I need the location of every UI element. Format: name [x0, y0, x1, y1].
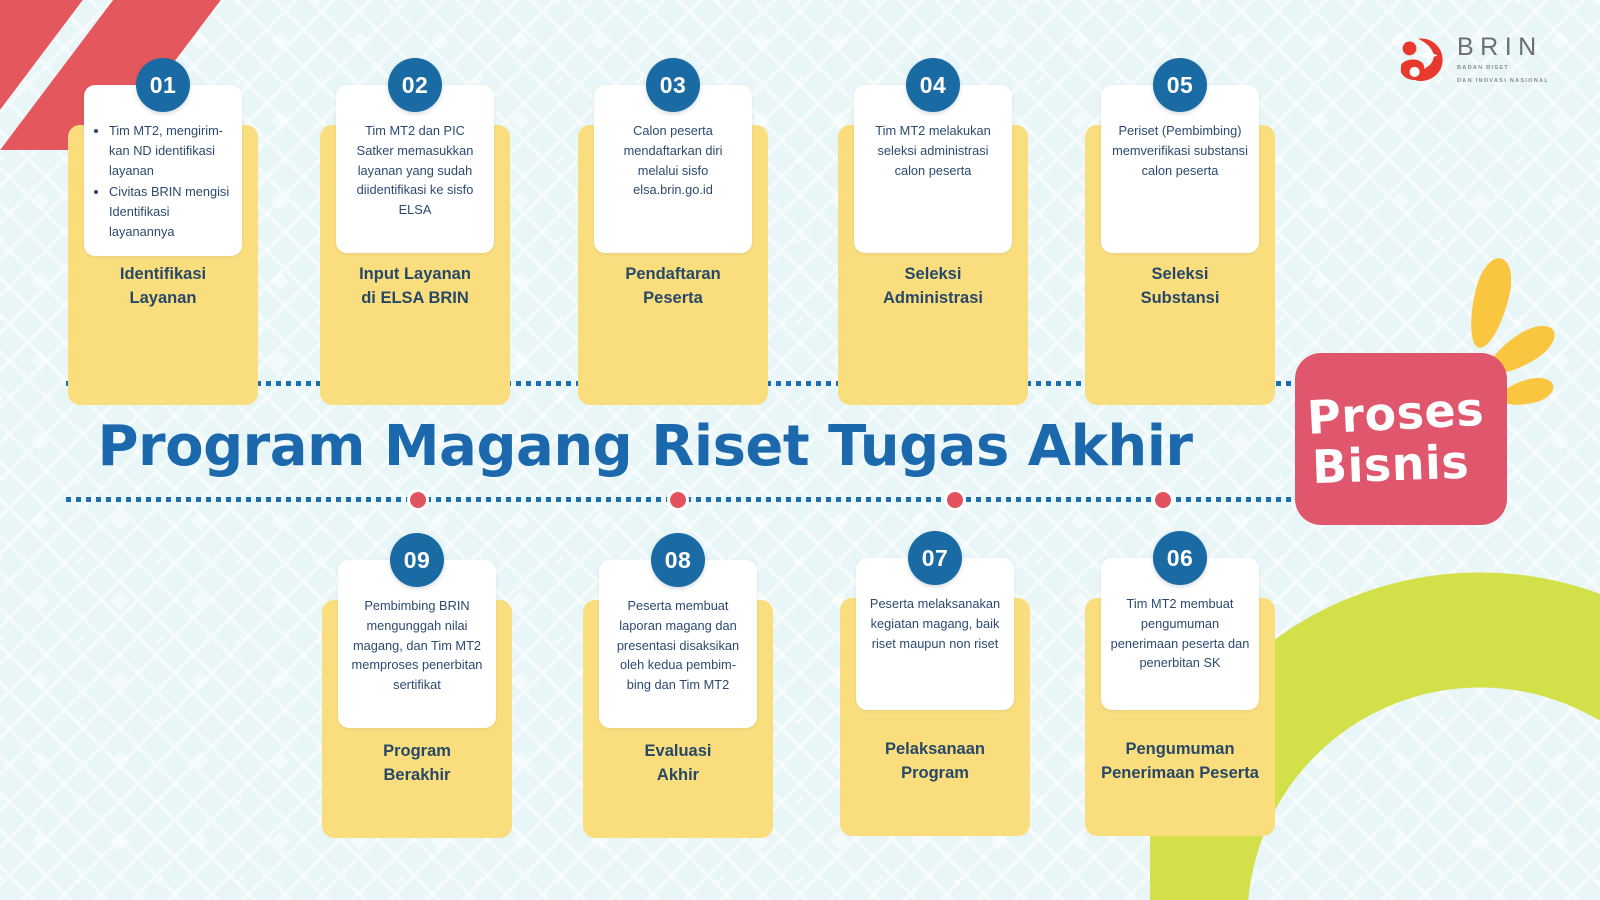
step-number-badge: 07: [908, 531, 962, 585]
card-title-line2: Berakhir: [322, 764, 512, 788]
step-number-badge: 03: [646, 58, 700, 112]
timeline-node-bottom-2: [667, 489, 689, 511]
sparkle-teardrop-icon: [1462, 254, 1517, 351]
card-title-line1: Seleksi: [1085, 263, 1275, 287]
card-title-line2: Penerimaan Peserta: [1085, 762, 1275, 786]
step-number-badge: 05: [1153, 58, 1207, 112]
card-title: Seleksi Substansi: [1085, 263, 1275, 311]
brin-tagline-line1: BADAN RISET: [1457, 64, 1549, 72]
card-title-line2: Substansi: [1085, 287, 1275, 311]
card-white-panel: 04 Tim MT2 melakukan seleksi administras…: [854, 85, 1012, 253]
step-number-badge: 09: [390, 533, 444, 587]
card-white-panel: 05 Periset (Pembimbing) memverifikasi su…: [1101, 85, 1259, 253]
card-title-line1: Program: [322, 740, 512, 764]
card-white-panel: 01 Tim MT2, mengirim-kan ND identifikasi…: [84, 85, 242, 256]
card-title-line2: Layanan: [68, 287, 258, 311]
brin-logo-mark-icon: [1398, 36, 1444, 82]
infographic-canvas: BRIN BADAN RISET DAN INOVASI NASIONAL Pr…: [0, 0, 1600, 900]
card-title-line1: Pengumuman: [1085, 738, 1275, 762]
brin-logo: BRIN BADAN RISET DAN INOVASI NASIONAL: [1398, 28, 1588, 90]
proses-bisnis-line1: Proses: [1305, 386, 1484, 442]
card-white-panel: 08 Peserta membuat laporan magang dan pr…: [599, 560, 757, 728]
card-white-panel: 07 Peserta melaksanakan kegiatan magang,…: [856, 558, 1014, 710]
card-title-line1: Seleksi: [838, 263, 1028, 287]
step-number-badge: 08: [651, 533, 705, 587]
card-title-line1: Pelaksanaan: [840, 738, 1030, 762]
card-bullet-item: Civitas BRIN mengisi Identifikasi layana…: [109, 182, 233, 241]
card-white-panel: 02 Tim MT2 dan PIC Satker memasukkan lay…: [336, 85, 494, 253]
card-title-line1: Identifikasi: [68, 263, 258, 287]
card-title: Identifikasi Layanan: [68, 263, 258, 311]
card-title: Pengumuman Penerimaan Peserta: [1085, 738, 1275, 786]
card-title-line2: di ELSA BRIN: [320, 287, 510, 311]
step-number-badge: 02: [388, 58, 442, 112]
step-number-badge: 04: [906, 58, 960, 112]
brin-wordmark: BRIN: [1457, 35, 1549, 60]
card-title-line2: Administrasi: [838, 287, 1028, 311]
card-white-panel: 06 Tim MT2 membuat pengumuman penerimaan…: [1101, 558, 1259, 710]
card-title: Program Berakhir: [322, 740, 512, 788]
card-bullet-item: Tim MT2, mengirim-kan ND identifikasi la…: [109, 121, 233, 180]
card-title-line2: Akhir: [583, 764, 773, 788]
card-title-line2: Peserta: [578, 287, 768, 311]
card-title: Evaluasi Akhir: [583, 740, 773, 788]
timeline-node-bottom-1: [407, 489, 429, 511]
timeline-node-bottom-3: [944, 489, 966, 511]
brin-logo-text: BRIN BADAN RISET DAN INOVASI NASIONAL: [1457, 33, 1549, 84]
card-title-line1: Pendaftaran: [578, 263, 768, 287]
step-number-badge: 06: [1153, 531, 1207, 585]
card-title-line1: Input Layanan: [320, 263, 510, 287]
proses-bisnis-badge: Proses Bisnis: [1295, 255, 1585, 545]
card-title-line1: Evaluasi: [583, 740, 773, 764]
proses-bisnis-line2: Bisnis: [1312, 439, 1471, 491]
card-title: Input Layanan di ELSA BRIN: [320, 263, 510, 311]
card-title-line2: Program: [840, 762, 1030, 786]
card-title: Seleksi Administrasi: [838, 263, 1028, 311]
brin-tagline-line2: DAN INOVASI NASIONAL: [1457, 77, 1549, 85]
card-title: Pendaftaran Peserta: [578, 263, 768, 311]
timeline-node-bottom-4: [1152, 489, 1174, 511]
proses-bisnis-box: Proses Bisnis: [1295, 353, 1507, 525]
card-white-panel: 03 Calon peserta mendaftarkan diri melal…: [594, 85, 752, 253]
card-white-panel: 09 Pembimbing BRIN mengunggah nilai maga…: [338, 560, 496, 728]
page-title: Program Magang Riset Tugas Akhir: [0, 414, 1290, 479]
card-title: Pelaksanaan Program: [840, 738, 1030, 786]
step-number-badge: 01: [136, 58, 190, 112]
